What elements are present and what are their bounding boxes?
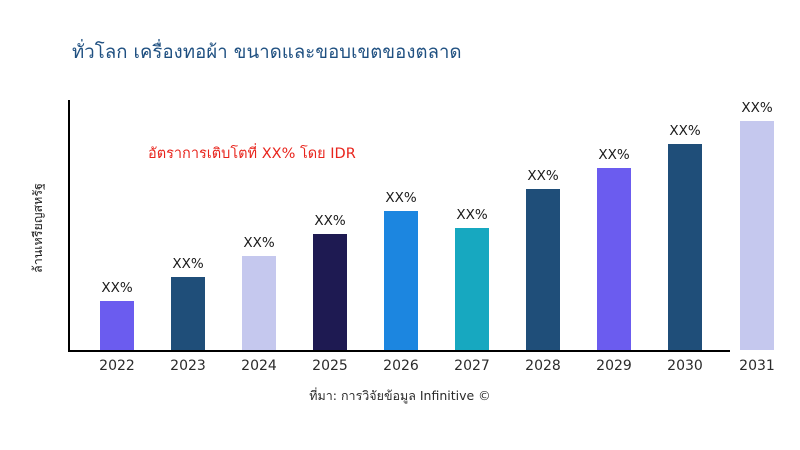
- bar[interactable]: [242, 256, 276, 350]
- bar-group: XX%2031: [740, 121, 774, 350]
- bar-value-label: XX%: [669, 123, 700, 139]
- bar-group: XX%2029: [597, 168, 631, 350]
- plot-area: XX%2022XX%2023XX%2024XX%2025XX%2026XX%20…: [68, 100, 730, 352]
- bar-group: XX%2028: [526, 189, 560, 350]
- bar[interactable]: [597, 168, 631, 350]
- bar-group: XX%2026: [384, 211, 418, 350]
- bar-value-label: XX%: [314, 213, 345, 229]
- bar-group: XX%2027: [455, 228, 489, 350]
- chart-page: ทั่วโลก เครื่องทอผ้า ขนาดและขอบเขตของตลา…: [0, 0, 800, 450]
- x-axis-tick-label: 2031: [739, 358, 775, 374]
- bar-group: XX%2023: [171, 277, 205, 350]
- bar-value-label: XX%: [598, 147, 629, 163]
- bar[interactable]: [455, 228, 489, 350]
- growth-rate-annotation: อัตราการเติบโตที่ XX% โดย IDR: [148, 142, 356, 165]
- x-axis-tick-label: 2030: [667, 358, 703, 374]
- bar[interactable]: [100, 301, 134, 350]
- bar-value-label: XX%: [456, 207, 487, 223]
- x-axis-line: [68, 350, 730, 352]
- x-axis-tick-label: 2025: [312, 358, 348, 374]
- bar-value-label: XX%: [172, 256, 203, 272]
- x-axis-tick-label: 2029: [596, 358, 632, 374]
- bar-group: XX%2024: [242, 256, 276, 350]
- bar-value-label: XX%: [243, 235, 274, 251]
- x-axis-tick-label: 2022: [99, 358, 135, 374]
- bar[interactable]: [526, 189, 560, 350]
- bar-value-label: XX%: [101, 280, 132, 296]
- bar-value-label: XX%: [741, 100, 772, 116]
- bar-group: XX%2025: [313, 234, 347, 350]
- x-axis-tick-label: 2027: [454, 358, 490, 374]
- bar-group: XX%2022: [100, 301, 134, 350]
- bar[interactable]: [171, 277, 205, 350]
- bar[interactable]: [668, 144, 702, 350]
- x-axis-tick-label: 2023: [170, 358, 206, 374]
- page-title: ทั่วโลก เครื่องทอผ้า ขนาดและขอบเขตของตลา…: [72, 38, 462, 67]
- bar[interactable]: [313, 234, 347, 350]
- source-note: ที่มา: การวิจัยข้อมูล Infinitive ©: [0, 386, 800, 406]
- y-axis-line: [68, 100, 70, 352]
- bar[interactable]: [740, 121, 774, 350]
- x-axis-tick-label: 2024: [241, 358, 277, 374]
- bar-value-label: XX%: [527, 168, 558, 184]
- bar-group: XX%2030: [668, 144, 702, 350]
- y-axis-label: ล้านเหรียญสหรัฐ: [28, 128, 48, 328]
- x-axis-tick-label: 2028: [525, 358, 561, 374]
- bar[interactable]: [384, 211, 418, 350]
- bar-value-label: XX%: [385, 190, 416, 206]
- x-axis-tick-label: 2026: [383, 358, 419, 374]
